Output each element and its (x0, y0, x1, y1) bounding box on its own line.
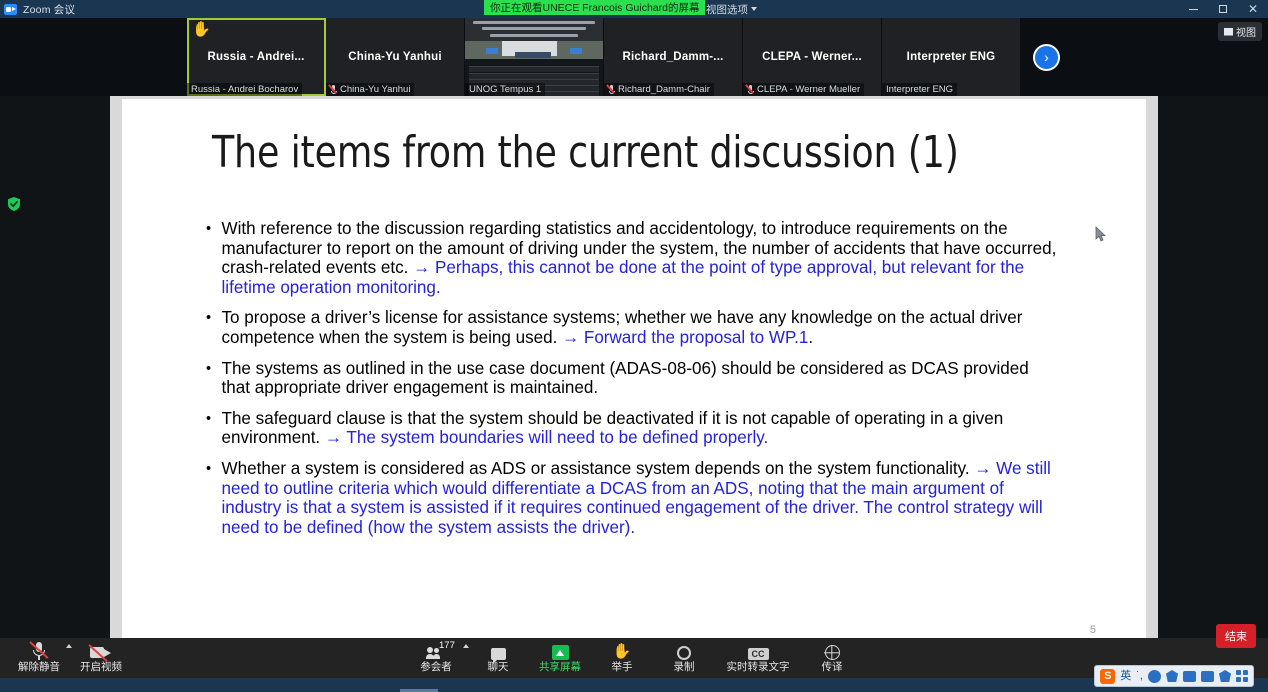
toolbox-icon[interactable] (1201, 671, 1214, 682)
bullet-marker: • (206, 359, 222, 398)
grid-view-icon (1224, 28, 1233, 36)
interpretation-button[interactable]: 传译 (801, 638, 863, 678)
screen-share-banner: 你正在观看UNECE Francois Guichard的屏幕 (484, 0, 705, 15)
participants-button[interactable]: 177 参会者 (405, 638, 467, 678)
filmstrip-thumbnails: ✋ Russia - Andrei... Russia - Andrei Boc… (187, 18, 1081, 96)
view-button-label: 视图 (1236, 24, 1256, 39)
list-item: • The safeguard clause is that the syste… (206, 409, 1060, 448)
globe-icon (825, 643, 840, 660)
app-title: Zoom 会议 (23, 2, 75, 17)
bullet-text: With reference to the discussion regardi… (222, 219, 1060, 297)
filmstrip-next-wrapper: › (1021, 18, 1081, 96)
list-item: • Whether a system is considered as ADS … (206, 459, 1060, 537)
live-transcript-label: 实时转录文字 (727, 662, 790, 673)
microphone-muted-icon (608, 85, 615, 95)
voice-input-icon[interactable] (1166, 670, 1178, 682)
microphone-muted-icon (747, 85, 754, 95)
participant-filmstrip: ✋ Russia - Andrei... Russia - Andrei Boc… (0, 18, 1268, 96)
participant-footer: China-Yu Yanhui (326, 83, 414, 96)
meeting-toolbar: 解除静音 开启视频 177 参会者 聊天 (0, 638, 1268, 678)
raise-hand-icon: ✋ (192, 22, 211, 37)
shared-content-area: The items from the current discussion (1… (110, 96, 1158, 652)
chat-label: 聊天 (488, 662, 509, 673)
bullet-marker: • (206, 219, 222, 297)
window-controls: ✕ (1178, 0, 1268, 18)
list-item: • To propose a driver’s license for assi… (206, 308, 1060, 347)
participant-thumbnail-video[interactable]: UNOG Tempus 1 (465, 18, 604, 96)
raise-hand-button[interactable]: ✋ 举手 (591, 638, 653, 678)
bullet-marker: • (206, 459, 222, 537)
bullet-text-blue: → Forward the proposal to WP.1 (562, 327, 808, 347)
slide-bullet-list: • With reference to the discussion regar… (206, 219, 1086, 548)
participant-display-name: Interpreter ENG (901, 51, 1002, 63)
raise-hand-icon: ✋ (613, 643, 632, 660)
participant-footer-name: Russia - Andrei Bocharov (191, 84, 298, 95)
zoom-logo-icon (4, 4, 17, 15)
punctuation-icon[interactable]: ˙, (1136, 671, 1143, 682)
participants-count: 177 (439, 640, 455, 651)
interpretation-label: 传译 (822, 662, 843, 673)
participant-footer: CLEPA - Werner Mueller (743, 83, 864, 96)
sogou-logo-icon[interactable]: S (1100, 669, 1115, 684)
participant-footer: UNOG Tempus 1 (465, 83, 545, 96)
chat-icon (491, 643, 506, 660)
participant-footer: Richard_Damm-Chair (604, 83, 714, 96)
participant-display-name: Russia - Andrei... (201, 51, 310, 63)
bullet-text-blue: → The system boundaries will need to be … (325, 427, 768, 447)
keyboard-icon[interactable] (1183, 671, 1196, 682)
presentation-slide: The items from the current discussion (1… (122, 99, 1146, 644)
participant-footer-name: Richard_Damm-Chair (618, 84, 710, 95)
microphone-muted-icon (330, 85, 337, 95)
share-screen-label: 共享屏幕 (539, 662, 581, 673)
slide-page-number: 5 (1090, 624, 1096, 636)
participant-thumbnail[interactable]: ✋ Russia - Andrei... Russia - Andrei Boc… (187, 18, 326, 96)
list-item: • The systems as outlined in the use cas… (206, 359, 1060, 398)
view-options-label: 视图选项 (706, 2, 748, 17)
participant-display-name: China-Yu Yanhui (342, 51, 448, 63)
view-layout-button[interactable]: 视图 (1218, 22, 1262, 41)
bullet-text-black: Whether a system is considered as ADS or… (222, 458, 975, 478)
apps-icon[interactable] (1236, 670, 1248, 682)
view-options-button[interactable]: 视图选项 (700, 0, 763, 18)
bullet-marker: • (206, 409, 222, 448)
bullet-text-trailing: . (808, 327, 813, 347)
windows-taskbar (0, 678, 1268, 692)
close-icon[interactable]: ✕ (1238, 0, 1268, 18)
title-bar: Zoom 会议 你正在观看UNECE Francois Guichard的屏幕 … (0, 0, 1268, 18)
record-icon (677, 643, 691, 660)
share-screen-icon (552, 643, 569, 660)
bullet-text: The systems as outlined in the use case … (222, 359, 1060, 398)
raise-hand-label: 举手 (612, 662, 633, 673)
skin-icon[interactable] (1219, 670, 1231, 682)
participant-thumbnail[interactable]: Richard_Damm-... Richard_Damm-Chair (604, 18, 743, 96)
bullet-text: Whether a system is considered as ADS or… (222, 459, 1060, 537)
closed-caption-icon: CC (748, 643, 769, 660)
participants-label: 参会者 (420, 662, 452, 673)
chat-button[interactable]: 聊天 (467, 638, 529, 678)
toolbar-center-group: 177 参会者 聊天 共享屏幕 ✋ 举手 录制 (0, 638, 1268, 678)
participant-footer: Russia - Andrei Bocharov (187, 83, 302, 96)
minimize-icon[interactable] (1178, 0, 1208, 18)
bullet-text-black: The systems as outlined in the use case … (222, 358, 1029, 398)
participant-display-name: CLEPA - Werner... (756, 51, 868, 63)
participant-footer-name: China-Yu Yanhui (340, 84, 410, 95)
participant-footer-name: Interpreter ENG (886, 84, 953, 95)
bullet-text: To propose a driver’s license for assist… (222, 308, 1060, 347)
bullet-marker: • (206, 308, 222, 347)
participant-footer: Interpreter ENG (882, 83, 957, 96)
emoji-icon[interactable] (1148, 670, 1161, 683)
participant-display-name: Richard_Damm-... (617, 51, 730, 63)
share-screen-button[interactable]: 共享屏幕 (529, 638, 591, 678)
participant-footer-name: CLEPA - Werner Mueller (757, 84, 860, 95)
end-meeting-button[interactable]: 结束 (1216, 624, 1256, 648)
zoom-meeting-window: Zoom 会议 你正在观看UNECE Francois Guichard的屏幕 … (0, 0, 1268, 692)
shared-screen-stage: The items from the current discussion (1… (0, 96, 1268, 652)
maximize-icon[interactable] (1208, 0, 1238, 18)
filmstrip-next-button[interactable]: › (1033, 44, 1060, 71)
participant-footer-name: UNOG Tempus 1 (469, 84, 541, 95)
ime-toolbar: S 英 ˙, (1094, 665, 1254, 687)
record-button[interactable]: 录制 (653, 638, 715, 678)
chevron-down-icon (751, 7, 757, 11)
live-transcript-button[interactable]: CC 实时转录文字 (715, 638, 801, 678)
bullet-text: The safeguard clause is that the system … (222, 409, 1060, 448)
security-shield-icon (6, 196, 22, 212)
slide-title: The items from the current discussion (1… (212, 127, 1040, 178)
participant-thumbnail[interactable]: Interpreter ENG Interpreter ENG (882, 18, 1021, 96)
list-item: • With reference to the discussion regar… (206, 219, 1060, 297)
record-label: 录制 (674, 662, 695, 673)
participant-thumbnail[interactable]: China-Yu Yanhui China-Yu Yanhui (326, 18, 465, 96)
participant-thumbnail[interactable]: CLEPA - Werner... CLEPA - Werner Mueller (743, 18, 882, 96)
ime-mode-label[interactable]: 英 (1120, 671, 1131, 682)
